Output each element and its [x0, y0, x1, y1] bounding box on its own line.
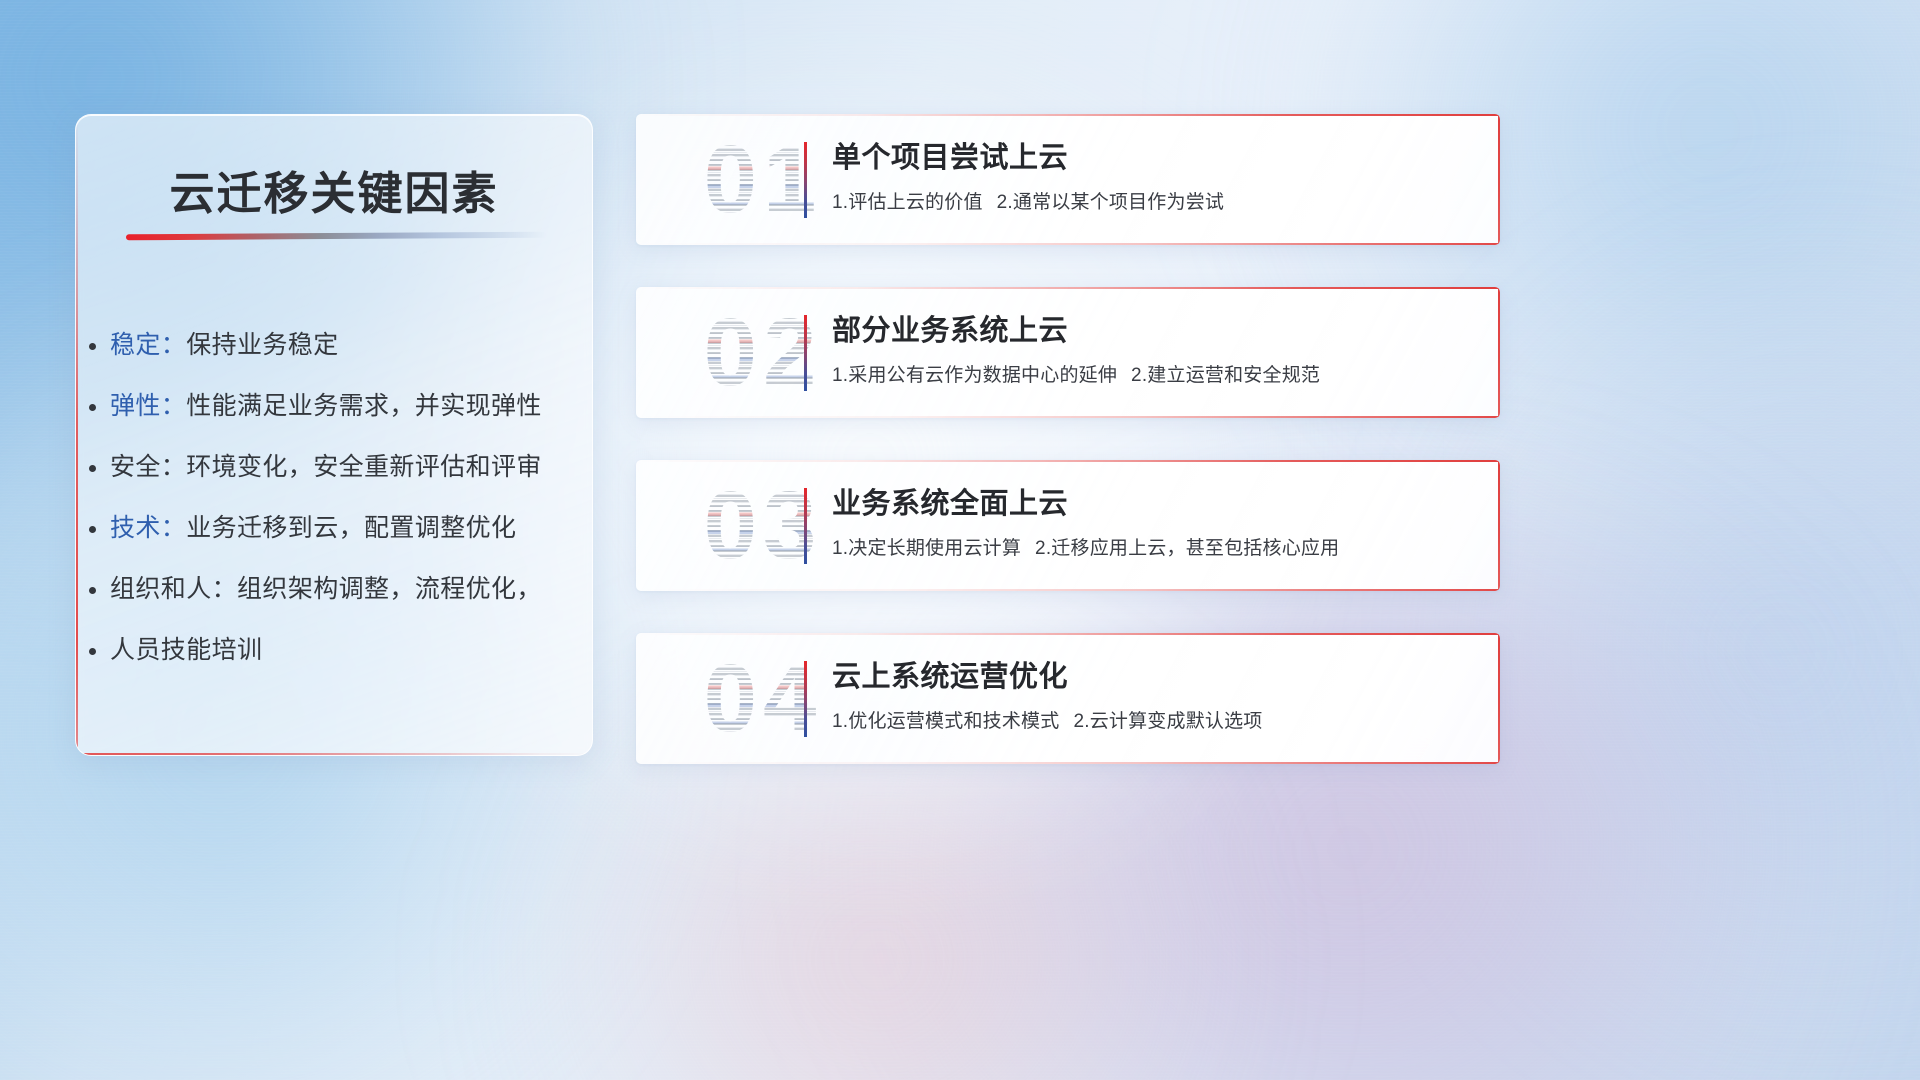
- maturity-stage-card[interactable]: 02020202部分业务系统上云1.采用公有云作为数据中心的延伸2.建立运营和安…: [636, 287, 1500, 418]
- card-divider-bar: [804, 142, 807, 218]
- key-factor-item: 技术：业务迁移到云，配置调整优化: [110, 498, 568, 559]
- card-right-accent-line: [1498, 287, 1500, 418]
- card-right-accent-line: [1498, 633, 1500, 764]
- card-description: 1.评估上云的价值2.通常以某个项目作为尝试: [832, 190, 1472, 216]
- card-title: 云上系统运营优化: [832, 657, 1472, 697]
- page-title: 云迁移关键因素: [76, 157, 592, 222]
- card-description-point-1: 1.评估上云的价值: [832, 192, 983, 213]
- card-description: 1.优化运营模式和技术模式2.云计算变成默认选项: [832, 709, 1472, 735]
- card-bottom-accent-line: [636, 589, 1500, 591]
- card-body: 业务系统全面上云1.决定长期使用云计算2.迁移应用上云，甚至包括核心应用: [832, 484, 1472, 562]
- key-factor-item: 组织和人：组织架构调整，流程优化，: [110, 559, 568, 620]
- key-factor-text: 性能满足业务需求，并实现弹性: [186, 392, 542, 420]
- card-description: 1.决定长期使用云计算2.迁移应用上云，甚至包括核心应用: [832, 536, 1472, 562]
- card-description-point-2: 2.通常以某个项目作为尝试: [997, 192, 1224, 213]
- key-factor-item: 弹性：性能满足业务需求，并实现弹性: [110, 376, 568, 437]
- key-factor-text: 人员技能培训: [110, 636, 262, 664]
- card-description-point-2: 2.迁移应用上云，甚至包括核心应用: [1035, 538, 1339, 559]
- card-description-point-1: 1.采用公有云作为数据中心的延伸: [832, 365, 1117, 386]
- card-top-accent-line: [636, 633, 1500, 635]
- card-body: 单个项目尝试上云1.评估上云的价值2.通常以某个项目作为尝试: [832, 138, 1472, 216]
- key-factor-label: 安全：: [110, 453, 186, 481]
- card-divider-bar: [804, 661, 807, 737]
- card-bottom-accent-line: [636, 243, 1500, 245]
- maturity-stage-card[interactable]: 01010101单个项目尝试上云1.评估上云的价值2.通常以某个项目作为尝试: [636, 114, 1500, 245]
- card-title: 业务系统全面上云: [832, 484, 1472, 524]
- card-description-point-1: 1.优化运营模式和技术模式: [832, 711, 1059, 732]
- card-divider-bar: [804, 315, 807, 391]
- key-factor-text: 保持业务稳定: [186, 331, 338, 359]
- maturity-stage-card-list: 01010101单个项目尝试上云1.评估上云的价值2.通常以某个项目作为尝试02…: [636, 114, 1500, 764]
- key-factors-panel: 云迁移关键因素 稳定：保持业务稳定弹性：性能满足业务需求，并实现弹性安全：环境变…: [75, 114, 593, 756]
- card-top-accent-line: [636, 287, 1500, 289]
- key-factor-item: 人员技能培训: [110, 620, 568, 681]
- slide-stage: 云迁移关键因素 稳定：保持业务稳定弹性：性能满足业务需求，并实现弹性安全：环境变…: [0, 0, 1920, 1080]
- card-title: 单个项目尝试上云: [832, 138, 1472, 178]
- title-underline-accent: [126, 232, 546, 241]
- card-title: 部分业务系统上云: [832, 311, 1472, 351]
- card-top-accent-line: [636, 114, 1500, 116]
- card-description-point-1: 1.决定长期使用云计算: [832, 538, 1021, 559]
- card-right-accent-line: [1498, 460, 1500, 591]
- card-divider-bar: [804, 488, 807, 564]
- maturity-stage-card[interactable]: 04040404云上系统运营优化1.优化运营模式和技术模式2.云计算变成默认选项: [636, 633, 1500, 764]
- card-bottom-accent-line: [636, 416, 1500, 418]
- key-factor-item: 稳定：保持业务稳定: [110, 315, 568, 376]
- card-right-accent-line: [1498, 114, 1500, 245]
- card-bottom-accent-line: [636, 762, 1500, 764]
- card-body: 云上系统运营优化1.优化运营模式和技术模式2.云计算变成默认选项: [832, 657, 1472, 735]
- maturity-stage-card[interactable]: 03030303业务系统全面上云1.决定长期使用云计算2.迁移应用上云，甚至包括…: [636, 460, 1500, 591]
- key-factors-list: 稳定：保持业务稳定弹性：性能满足业务需求，并实现弹性安全：环境变化，安全重新评估…: [110, 315, 568, 681]
- key-factor-text: 业务迁移到云，配置调整优化: [186, 514, 516, 542]
- key-factor-text: 环境变化，安全重新评估和评审: [186, 453, 542, 481]
- card-top-accent-line: [636, 460, 1500, 462]
- key-factor-label: 稳定：: [110, 331, 186, 359]
- card-description: 1.采用公有云作为数据中心的延伸2.建立运营和安全规范: [832, 363, 1472, 389]
- key-factor-text: 组织架构调整，流程优化，: [237, 575, 542, 603]
- key-factor-item: 安全：环境变化，安全重新评估和评审: [110, 437, 568, 498]
- card-description-point-2: 2.建立运营和安全规范: [1131, 365, 1320, 386]
- key-factor-label: 技术：: [110, 514, 186, 542]
- key-factor-label: 组织和人：: [110, 575, 237, 603]
- key-factor-label: 弹性：: [110, 392, 186, 420]
- card-description-point-2: 2.云计算变成默认选项: [1073, 711, 1262, 732]
- card-body: 部分业务系统上云1.采用公有云作为数据中心的延伸2.建立运营和安全规范: [832, 311, 1472, 389]
